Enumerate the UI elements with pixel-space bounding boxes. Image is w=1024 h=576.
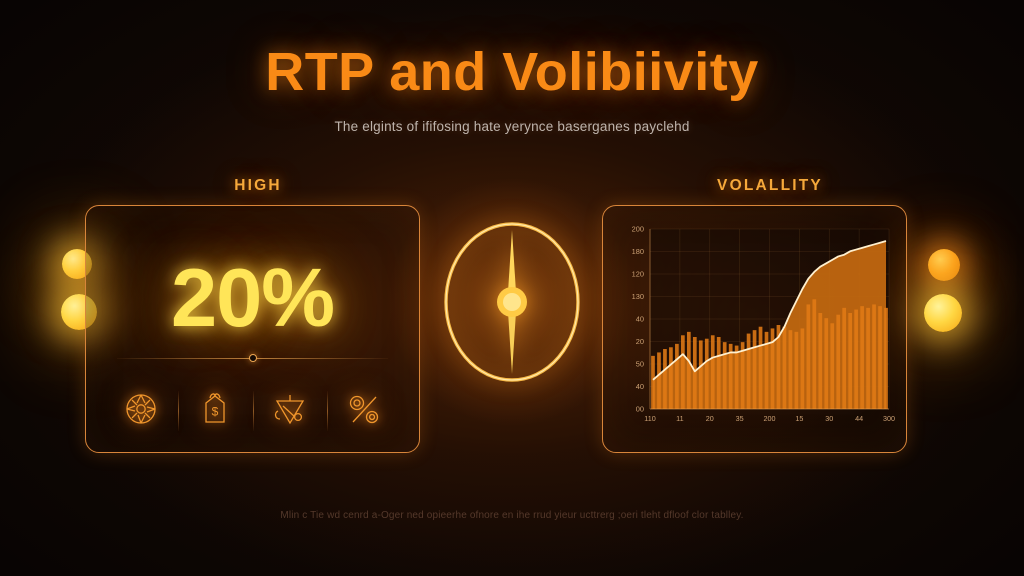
svg-text:00: 00 <box>636 405 644 414</box>
svg-text:30: 30 <box>825 414 833 423</box>
svg-text:130: 130 <box>632 292 644 301</box>
infographic-canvas: RTP and Volibiivity The elgints of ififo… <box>0 0 1024 576</box>
volatility-chart-panel: 2001801201304020504000110112035200153044… <box>602 205 907 453</box>
svg-text:180: 180 <box>632 247 644 256</box>
svg-text:20: 20 <box>636 337 644 346</box>
icon-cell-triangle-chart[interactable] <box>253 385 327 437</box>
footer-caption: Mlin c Tie wd cenrd a-Oger ned opieerhe … <box>0 510 1024 521</box>
left-section-label: HIGH <box>148 177 368 195</box>
svg-text:35: 35 <box>736 414 744 423</box>
chart-svg: 2001801201304020504000110112035200153044… <box>612 217 899 443</box>
divider-node <box>249 354 257 362</box>
triangle-chart-icon <box>269 389 311 434</box>
svg-text:200: 200 <box>764 414 776 423</box>
rtp-metric-panel: 20% <box>85 205 420 453</box>
svg-text:$: $ <box>212 404 219 418</box>
svg-text:44: 44 <box>855 414 863 423</box>
icon-cell-percent[interactable] <box>327 385 401 437</box>
svg-text:200: 200 <box>632 225 644 234</box>
svg-text:40: 40 <box>636 382 644 391</box>
icon-cell-price-tag[interactable]: $ <box>178 385 252 437</box>
decorative-orb-right-top <box>928 249 960 281</box>
right-section-label: VOLALLITY <box>640 177 900 195</box>
volatility-chart[interactable]: 2001801201304020504000110112035200153044… <box>612 217 899 443</box>
svg-text:15: 15 <box>795 414 803 423</box>
price-tag-dollar-icon: $ <box>196 389 234 434</box>
page-subtitle: The elgints of ififosing hate yerynce ba… <box>0 119 1024 134</box>
svg-text:120: 120 <box>632 270 644 279</box>
dial-graphic <box>432 212 592 392</box>
page-title: RTP and Volibiivity <box>0 41 1024 103</box>
svg-text:50: 50 <box>636 360 644 369</box>
decorative-orb-right-bottom <box>924 294 962 332</box>
rtp-metric-value: 20% <box>86 250 419 346</box>
svg-text:11: 11 <box>676 414 683 423</box>
svg-text:40: 40 <box>636 315 644 324</box>
percent-circle-icon <box>343 389 385 434</box>
icon-cell-globe[interactable] <box>104 385 178 437</box>
feature-icon-row: $ <box>104 382 401 440</box>
svg-text:20: 20 <box>706 414 714 423</box>
svg-text:300: 300 <box>883 414 895 423</box>
gauge-dial[interactable] <box>432 212 592 392</box>
globe-network-icon <box>121 389 161 434</box>
svg-text:110: 110 <box>644 414 655 423</box>
